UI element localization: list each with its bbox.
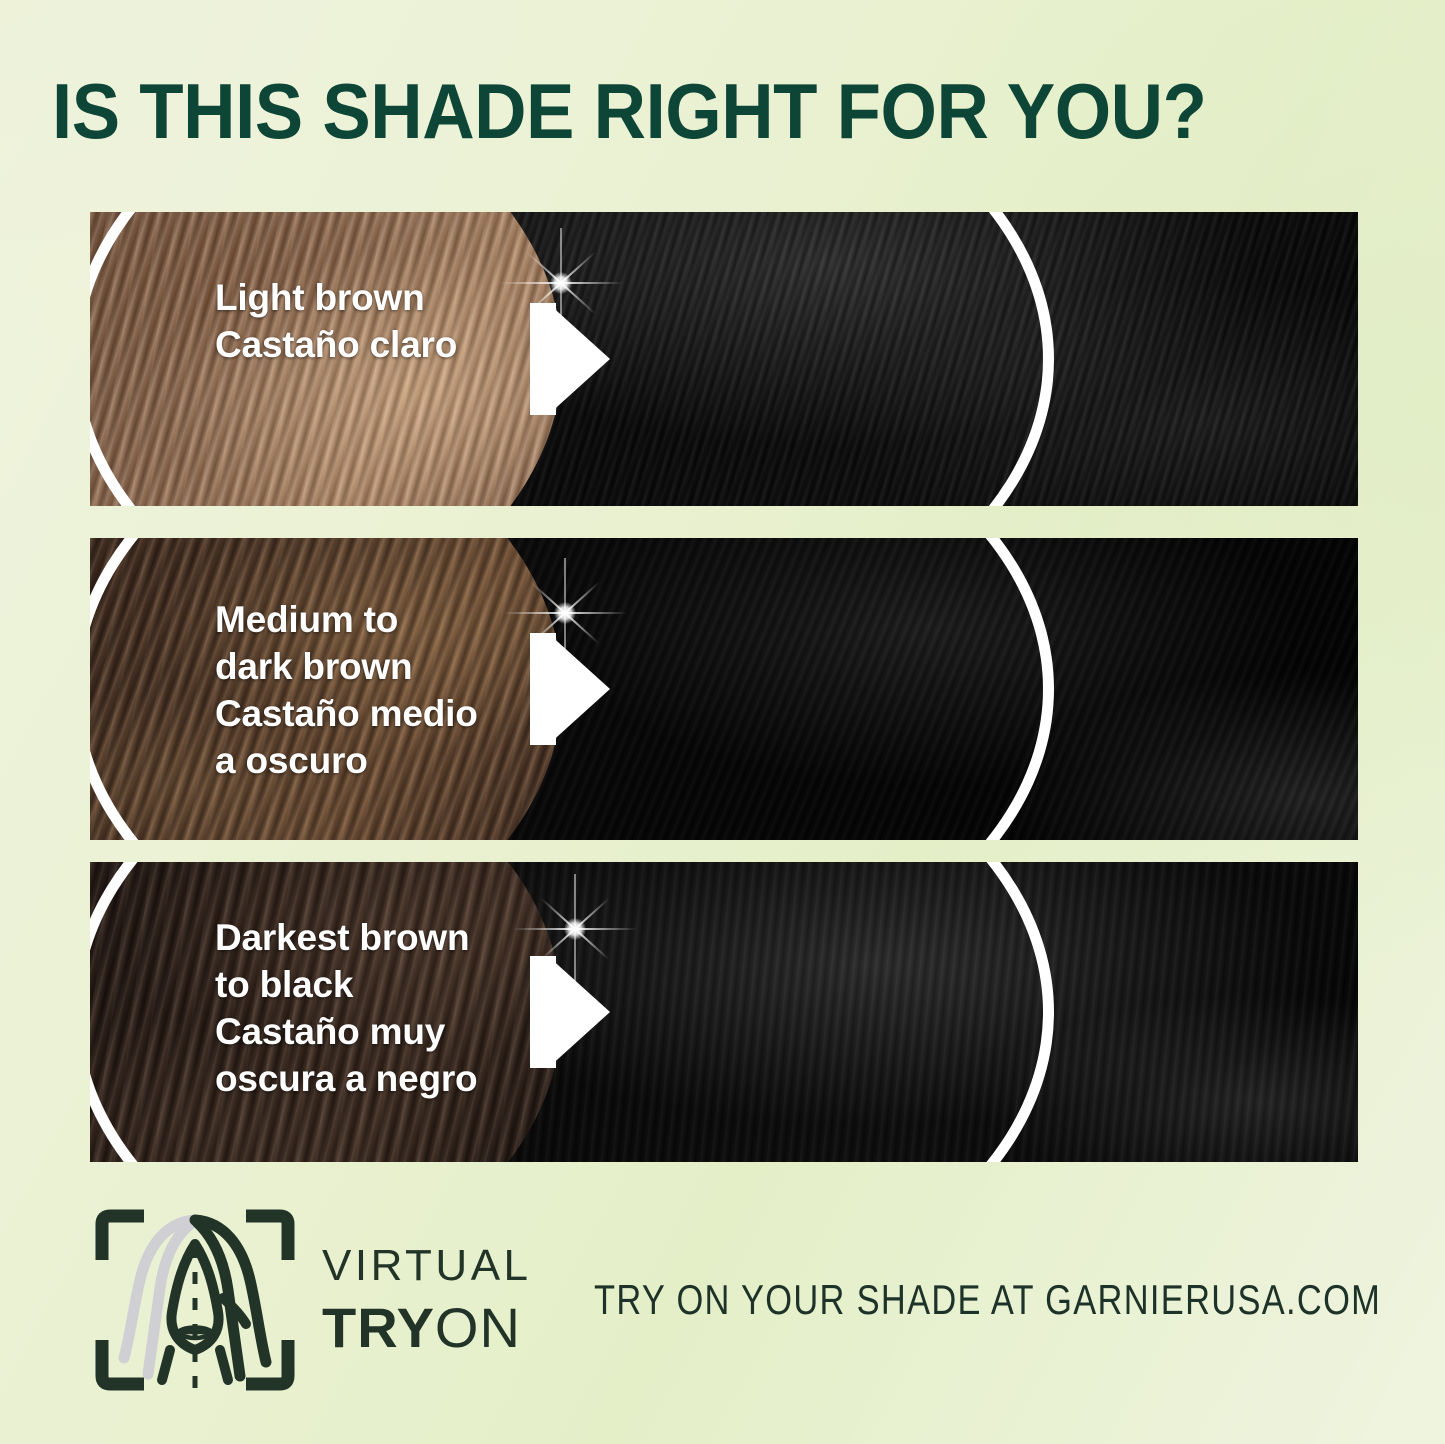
logo-word-virtual: VIRTUAL — [322, 1244, 532, 1288]
page-background: IS THIS SHADE RIGHT FOR YOU? Light brown… — [0, 0, 1445, 1444]
footer-tagline: TRY ON YOUR SHADE AT GARNIERUSA.COM — [594, 1276, 1381, 1324]
virtual-try-on-wordmark: VIRTUAL TRYON — [322, 1244, 532, 1356]
logo-word-on: ON — [435, 1296, 521, 1359]
arrow-right-icon — [548, 956, 610, 1068]
shade-label: Medium to dark brown Castaño medio a osc… — [215, 596, 478, 784]
arrow-right-icon — [548, 303, 610, 415]
page-title: IS THIS SHADE RIGHT FOR YOU? — [52, 72, 1317, 150]
shade-band-darkest-brown-black[interactable]: Darkest brown to black Castaño muy oscur… — [90, 862, 1358, 1162]
shade-label: Light brown Castaño claro — [215, 274, 457, 368]
logo-word-tryon: TRYON — [322, 1300, 532, 1356]
footer: VIRTUAL TRYON TRY ON YOUR SHADE AT GARNI… — [90, 1200, 1380, 1400]
logo-word-try: TRY — [322, 1296, 435, 1359]
arrow-right-icon — [548, 633, 610, 745]
shade-label: Darkest brown to black Castaño muy oscur… — [215, 914, 477, 1102]
shade-band-light-brown[interactable]: Light brown Castaño claro — [90, 212, 1358, 506]
shade-band-medium-dark-brown[interactable]: Medium to dark brown Castaño medio a osc… — [90, 538, 1358, 840]
virtual-try-on-logo-icon — [90, 1202, 300, 1398]
